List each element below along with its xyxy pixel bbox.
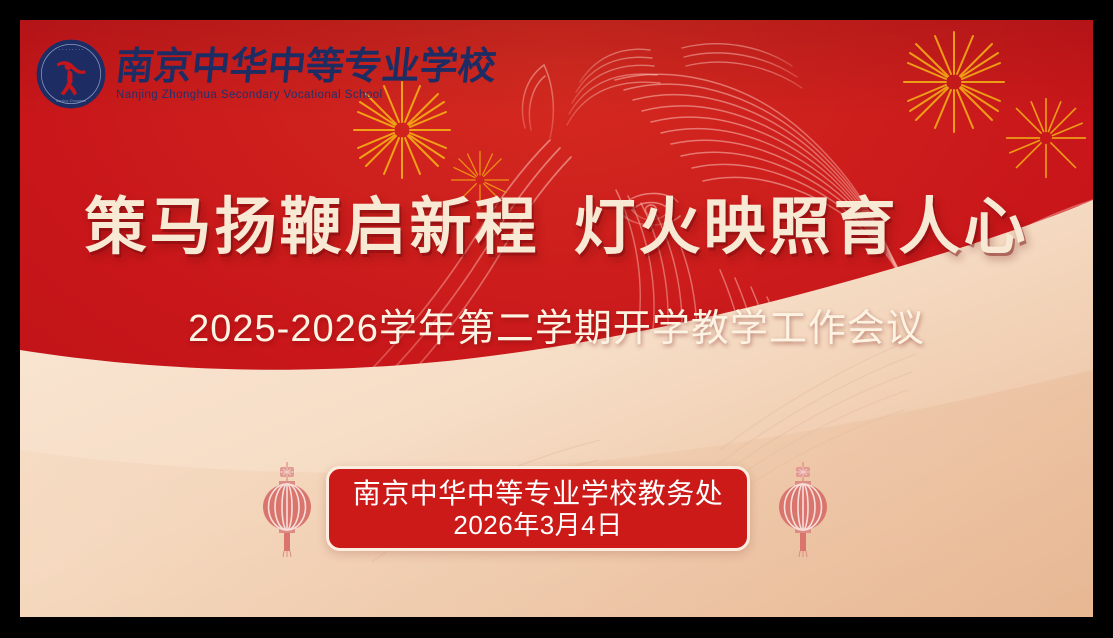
screenshot-frame: · · · · · · · · Nanjing Zhonghua 南京中华中等专… bbox=[0, 0, 1113, 638]
badge-organization: 南京中华中等专业学校教务处 bbox=[353, 477, 724, 510]
lantern-right-icon bbox=[768, 458, 838, 558]
svg-text:Nanjing Zhonghua: Nanjing Zhonghua bbox=[56, 99, 86, 103]
lantern-left-icon bbox=[252, 458, 322, 558]
badge-date: 2026年3月4日 bbox=[453, 510, 622, 541]
poster-canvas: · · · · · · · · Nanjing Zhonghua 南京中华中等专… bbox=[20, 20, 1093, 617]
headline-part-1: 策马扬鞭启新程 bbox=[84, 196, 539, 258]
svg-text:· · · · · · · ·: · · · · · · · · bbox=[59, 47, 84, 53]
page-subtitle: 2025-2026学年第二学期开学教学工作会议 bbox=[20, 310, 1093, 348]
page-title: 策马扬鞭启新程灯火映照育人心 bbox=[20, 196, 1093, 258]
logo-text-block: 南京中华中等专业学校 Nanjing Zhonghua Secondary Vo… bbox=[116, 46, 496, 102]
school-logo[interactable]: · · · · · · · · Nanjing Zhonghua 南京中华中等专… bbox=[34, 37, 496, 111]
logo-english-name: Nanjing Zhonghua Secondary Vocational Sc… bbox=[116, 89, 496, 102]
headline-part-2: 灯火映照育人心 bbox=[574, 196, 1029, 258]
logo-chinese-name: 南京中华中等专业学校 bbox=[114, 46, 498, 86]
school-crest-icon: · · · · · · · · Nanjing Zhonghua bbox=[34, 37, 108, 111]
organization-badge: 南京中华中等专业学校教务处 2026年3月4日 bbox=[326, 466, 750, 551]
